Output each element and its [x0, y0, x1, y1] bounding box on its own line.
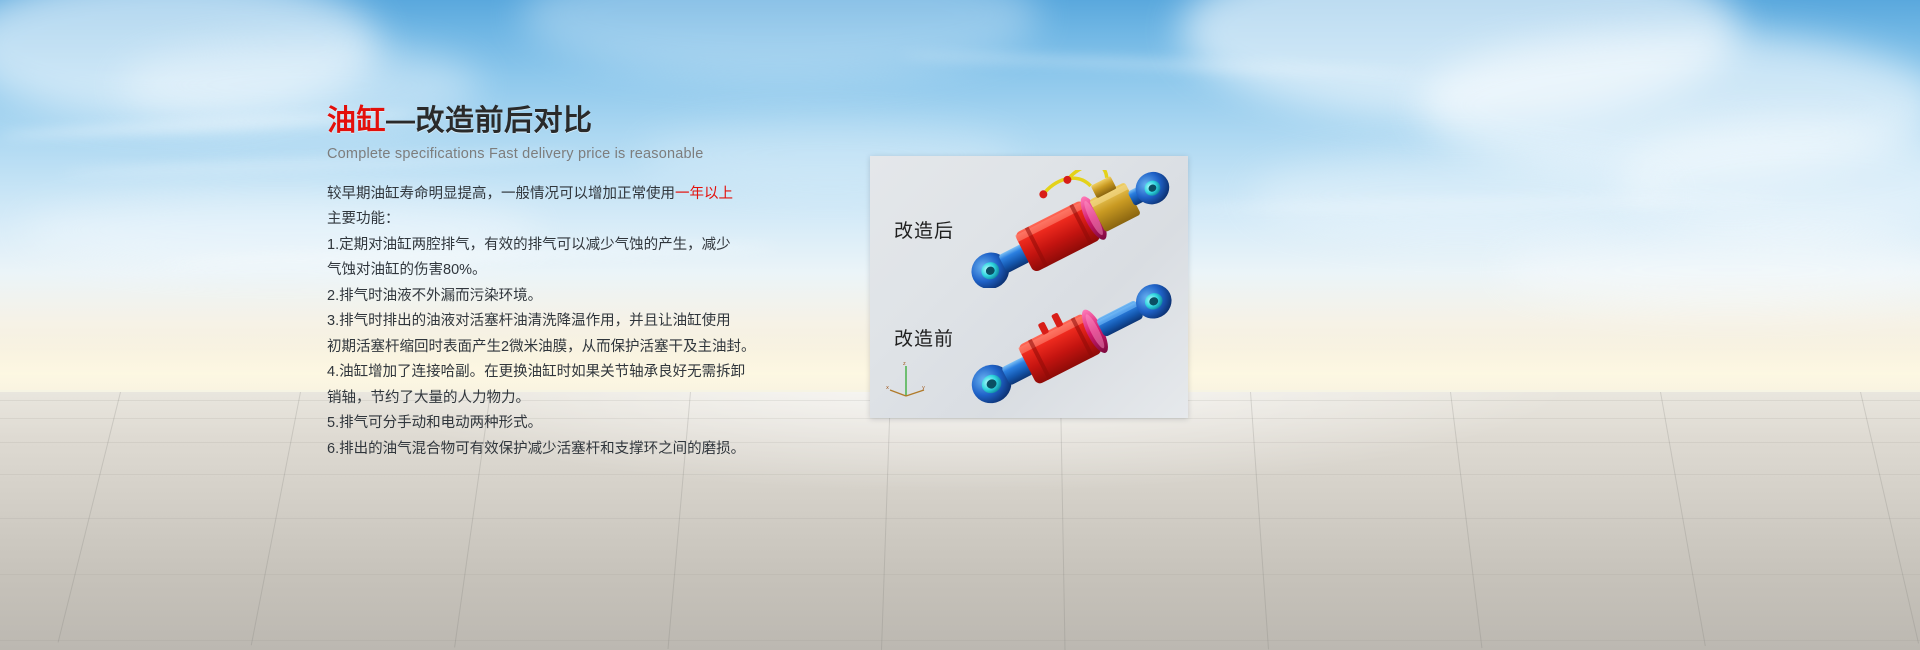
text-column: 油缸—改造前后对比 Complete specifications Fast d…: [327, 104, 887, 462]
cloud-shape: [1500, 230, 1920, 310]
body-line: 5.排气可分手动和电动两种形式。: [327, 411, 887, 437]
page-subtitle: Complete specifications Fast delivery pr…: [327, 146, 887, 162]
cylinder-render-before: [958, 282, 1182, 406]
pavement-background: [0, 392, 1920, 650]
body-line: 3.排气时排出的油液对活塞杆油清洗降温作用，并且让油缸使用: [327, 309, 887, 335]
pavement-sheen: [0, 392, 1920, 650]
pavement-line: [0, 474, 1920, 475]
label-after-modification: 改造后: [894, 216, 954, 243]
intro-line: 较早期油缸寿命明显提高，一般情况可以增加正常使用一年以上: [327, 182, 887, 208]
page-title: 油缸—改造前后对比: [327, 104, 887, 139]
cylinder-render-after: [958, 170, 1182, 288]
svg-text:z: z: [903, 361, 906, 367]
body-line: 销轴，节约了大量的人力物力。: [327, 386, 887, 412]
cylinder-comparison-panel: 改造后 改造前 z x y: [870, 156, 1188, 418]
coordinate-axes-icon: z x y: [886, 360, 928, 402]
pavement-line: [0, 442, 1920, 443]
pavement-line: [0, 518, 1920, 519]
cloud-shape: [520, 0, 1040, 80]
body-line: 1.定期对油缸两腔排气，有效的排气可以减少气蚀的产生，减少: [327, 233, 887, 259]
svg-text:y: y: [922, 385, 925, 391]
body-line: 4.油缸增加了连接哈副。在更换油缸时如果关节轴承良好无需拆卸: [327, 360, 887, 386]
body-line: 2.排气时油液不外漏而污染环境。: [327, 284, 887, 310]
pavement-line: [0, 640, 1920, 641]
pavement-line: [0, 418, 1920, 419]
intro-prefix: 较早期油缸寿命明显提高，一般情况可以增加正常使用: [327, 186, 675, 202]
body-line: 气蚀对油缸的伤害80%。: [327, 258, 887, 284]
cloud-shape: [1250, 150, 1670, 240]
banner-stage: 油缸—改造前后对比 Complete specifications Fast d…: [0, 0, 1920, 650]
pavement-line: [0, 574, 1920, 575]
body-text-block: 较早期油缸寿命明显提高，一般情况可以增加正常使用一年以上 主要功能： 1.定期对…: [327, 182, 887, 463]
page-title-red: 油缸: [327, 105, 386, 137]
intro-highlight: 一年以上: [675, 186, 733, 202]
body-line: 6.排出的油气混合物可有效保护减少活塞杆和支撑环之间的磨损。: [327, 437, 887, 463]
page-title-dark: —改造前后对比: [386, 105, 593, 137]
body-line: 初期活塞杆缩回时表面产生2微米油膜，从而保护活塞干及主油封。: [327, 335, 887, 361]
label-before-modification: 改造前: [894, 324, 954, 351]
svg-text:x: x: [886, 385, 889, 391]
functions-heading: 主要功能：: [327, 207, 887, 233]
